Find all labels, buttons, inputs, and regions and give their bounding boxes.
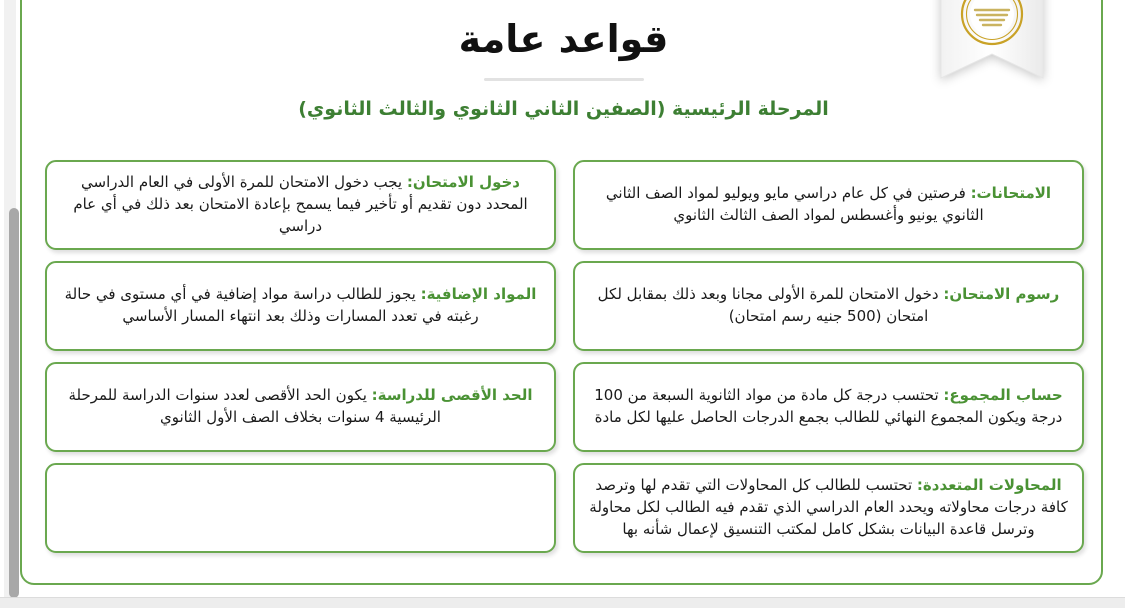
- page-subtitle: المرحلة الرئيسية (الصفين الثاني الثانوي …: [22, 97, 1105, 122]
- card-total-calculation: حساب المجموع: تحتسب درجة كل مادة من مواد…: [573, 362, 1084, 452]
- card-label: الحد الأقصى للدراسة:: [372, 386, 533, 404]
- card-label: حساب المجموع:: [943, 386, 1062, 404]
- card-exam-entry: دخول الامتحان: يجب دخول الامتحان للمرة ا…: [45, 160, 556, 250]
- card-body: فرصتين في كل عام دراسي مايو ويوليو لمواد…: [606, 184, 984, 224]
- card-label: المواد الإضافية:: [421, 285, 537, 303]
- card-text: المحاولات المتعددة: تحتسب للطالب كل المح…: [589, 475, 1068, 540]
- card-exam-fees: رسوم الامتحان: دخول الامتحان للمرة الأول…: [573, 261, 1084, 351]
- document-viewport: قواعد عامة المرحلة الرئيسية (الصفين الثا…: [0, 0, 1125, 608]
- card-label: الامتحانات:: [971, 184, 1052, 202]
- card-multiple-attempts: المحاولات المتعددة: تحتسب للطالب كل المح…: [573, 463, 1084, 553]
- horizontal-scrollbar[interactable]: [0, 597, 1125, 608]
- card-label: دخول الامتحان:: [407, 173, 520, 191]
- ministry-emblem-ribbon: [933, 0, 1051, 96]
- card-body: دخول الامتحان للمرة الأولى مجانا وبعد ذل…: [598, 285, 944, 325]
- title-divider: [484, 78, 644, 81]
- card-text: الامتحانات: فرصتين في كل عام دراسي مايو …: [589, 183, 1068, 227]
- card-empty-placeholder: [45, 463, 556, 553]
- card-text: رسوم الامتحان: دخول الامتحان للمرة الأول…: [589, 284, 1068, 328]
- card-text: حساب المجموع: تحتسب درجة كل مادة من مواد…: [589, 385, 1068, 429]
- page-frame: قواعد عامة المرحلة الرئيسية (الصفين الثا…: [20, 0, 1103, 585]
- card-text: المواد الإضافية: يجوز للطالب دراسة مواد …: [61, 284, 540, 328]
- card-examinations: الامتحانات: فرصتين في كل عام دراسي مايو …: [573, 160, 1084, 250]
- vertical-scrollbar-track[interactable]: [4, 0, 16, 598]
- rules-card-grid: الامتحانات: فرصتين في كل عام دراسي مايو …: [45, 160, 1084, 553]
- vertical-scrollbar-thumb[interactable]: [9, 208, 19, 598]
- card-label: رسوم الامتحان:: [943, 285, 1059, 303]
- card-label: المحاولات المتعددة:: [917, 476, 1062, 494]
- card-text: الحد الأقصى للدراسة: يكون الحد الأقصى لع…: [61, 385, 540, 429]
- card-body: يجوز للطالب دراسة مواد إضافية في أي مستو…: [65, 285, 479, 325]
- card-additional-subjects: المواد الإضافية: يجوز للطالب دراسة مواد …: [45, 261, 556, 351]
- card-text: دخول الامتحان: يجب دخول الامتحان للمرة ا…: [61, 172, 540, 237]
- card-max-study-years: الحد الأقصى للدراسة: يكون الحد الأقصى لع…: [45, 362, 556, 452]
